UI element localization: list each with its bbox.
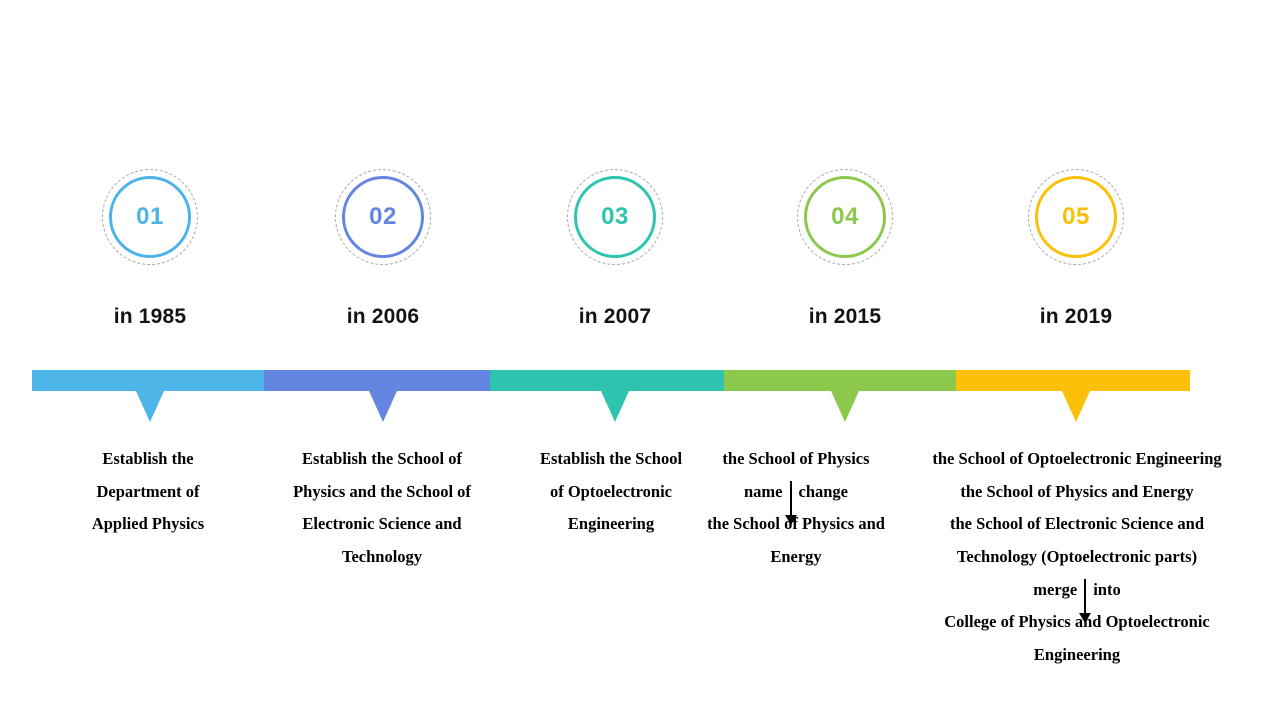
stage-description-01: Establish theDepartment ofApplied Physic… bbox=[38, 443, 258, 541]
bar-segment-03[interactable] bbox=[490, 370, 724, 391]
description-line: Energy bbox=[685, 541, 907, 574]
bar-segment-04[interactable] bbox=[724, 370, 956, 391]
down-arrow-icon bbox=[783, 483, 799, 500]
description-line: Physics and the School of bbox=[262, 476, 502, 509]
step-number-label: 01 bbox=[136, 205, 164, 229]
description-line: the School of Physics bbox=[685, 443, 907, 476]
bar-pointer-triangle-01 bbox=[136, 391, 164, 422]
stage-description-05: the School of Optoelectronic Engineering… bbox=[893, 443, 1261, 672]
description-line: Applied Physics bbox=[38, 508, 258, 541]
arrow-label-before: name bbox=[744, 482, 783, 501]
year-label-02: in 2006 bbox=[263, 305, 503, 329]
bar-pointer-triangle-04 bbox=[831, 391, 859, 422]
description-line: Electronic Science and bbox=[262, 508, 502, 541]
timeline-step-marker-03[interactable]: 03 bbox=[567, 169, 663, 265]
description-line: the School of Physics and bbox=[685, 508, 907, 541]
arrow-label-after: into bbox=[1093, 580, 1121, 599]
step-circle-ring: 01 bbox=[109, 176, 191, 258]
arrow-head bbox=[1079, 613, 1091, 623]
description-line: the School of Optoelectronic Engineering bbox=[893, 443, 1261, 476]
bar-pointer-triangle-03 bbox=[601, 391, 629, 422]
year-label-04: in 2015 bbox=[725, 305, 965, 329]
year-label-03: in 2007 bbox=[495, 305, 735, 329]
arrow-shaft bbox=[1084, 579, 1086, 615]
timeline-infographic: 01in 1985Establish theDepartment ofAppli… bbox=[0, 0, 1267, 713]
bar-segment-01[interactable] bbox=[32, 370, 264, 391]
bar-pointer-triangle-05 bbox=[1062, 391, 1090, 422]
step-number-label: 05 bbox=[1062, 205, 1090, 229]
timeline-step-marker-02[interactable]: 02 bbox=[335, 169, 431, 265]
step-number-label: 03 bbox=[601, 205, 629, 229]
description-line: the School of Physics and Energy bbox=[893, 476, 1261, 509]
description-line: College of Physics and Optoelectronic bbox=[893, 606, 1261, 639]
bar-segment-02[interactable] bbox=[264, 370, 490, 391]
stage-description-02: Establish the School ofPhysics and the S… bbox=[262, 443, 502, 574]
step-circle-ring: 05 bbox=[1035, 176, 1117, 258]
description-line: Technology (Optoelectronic parts) bbox=[893, 541, 1261, 574]
step-number-label: 04 bbox=[831, 205, 859, 229]
timeline-step-marker-04[interactable]: 04 bbox=[797, 169, 893, 265]
description-line: Establish the bbox=[38, 443, 258, 476]
step-circle-ring: 04 bbox=[804, 176, 886, 258]
step-circle-ring: 02 bbox=[342, 176, 424, 258]
year-label-01: in 1985 bbox=[30, 305, 270, 329]
timeline-step-marker-01[interactable]: 01 bbox=[102, 169, 198, 265]
timeline-step-marker-05[interactable]: 05 bbox=[1028, 169, 1124, 265]
arrow-label-after: change bbox=[799, 482, 849, 501]
stage-description-04: the School of Physicsnamechangethe Schoo… bbox=[685, 443, 907, 574]
down-arrow-icon bbox=[1077, 581, 1093, 598]
step-number-label: 02 bbox=[369, 205, 397, 229]
description-line: Establish the School of bbox=[262, 443, 502, 476]
description-line: Engineering bbox=[893, 639, 1261, 672]
step-circle-ring: 03 bbox=[574, 176, 656, 258]
description-line-with-arrow: mergeinto bbox=[893, 574, 1261, 607]
timeline-bar bbox=[32, 370, 1190, 391]
description-line: Technology bbox=[262, 541, 502, 574]
arrow-head bbox=[785, 515, 797, 525]
arrow-label-before: merge bbox=[1033, 580, 1077, 599]
bar-segment-05[interactable] bbox=[956, 370, 1190, 391]
arrow-shaft bbox=[790, 481, 792, 517]
description-line: Department of bbox=[38, 476, 258, 509]
description-line-with-arrow: namechange bbox=[685, 476, 907, 509]
description-line: the School of Electronic Science and bbox=[893, 508, 1261, 541]
year-label-05: in 2019 bbox=[956, 305, 1196, 329]
bar-pointer-triangle-02 bbox=[369, 391, 397, 422]
